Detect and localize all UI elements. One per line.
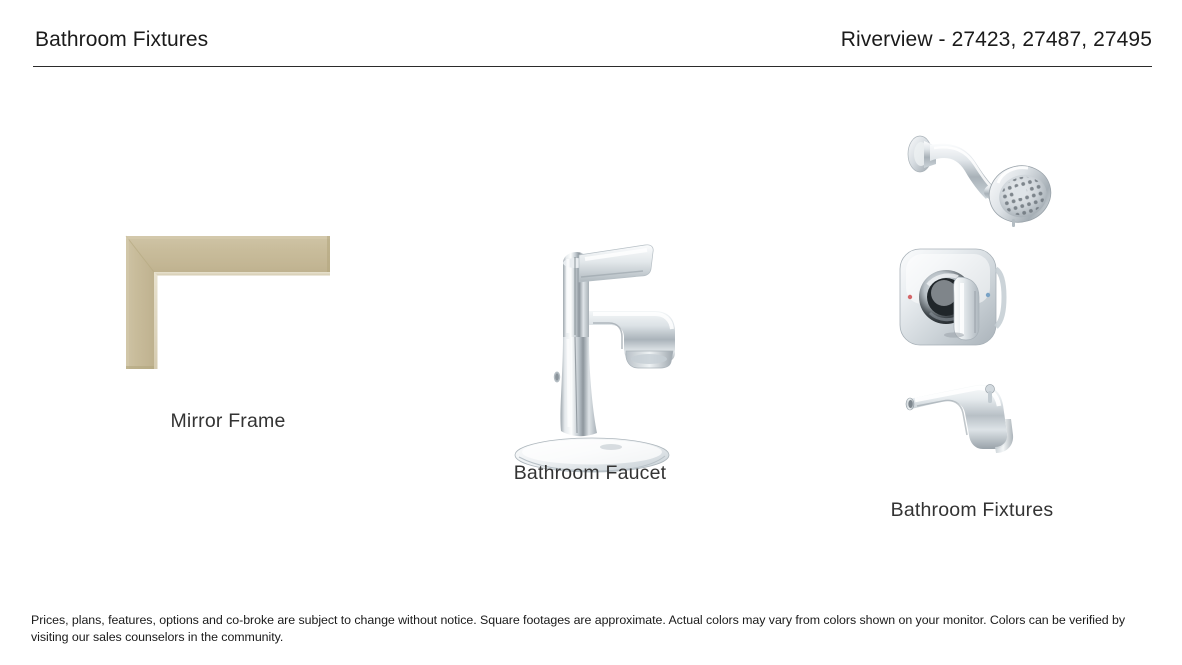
community-label: Riverview - 27423, 27487, 27495: [841, 28, 1152, 52]
disclaimer-text: Prices, plans, features, options and co-…: [31, 612, 1141, 646]
page-header: Bathroom Fixtures Riverview - 27423, 274…: [33, 28, 1152, 70]
tub-spout-image: [895, 375, 1045, 470]
bathroom-faucet-image: [505, 225, 680, 495]
product-faucet[interactable]: [505, 225, 680, 495]
mirror-frame-corner-image: [118, 230, 338, 375]
product-fixtures[interactable]: [880, 125, 1080, 515]
header-divider: [33, 66, 1152, 67]
page-footer: Prices, plans, features, options and co-…: [31, 612, 1141, 646]
product-caption-fixtures: Bathroom Fixtures: [812, 499, 1132, 522]
product-gallery: Mirror Frame: [0, 80, 1182, 560]
product-caption-mirror-frame: Mirror Frame: [68, 410, 388, 433]
shower-valve-trim-image: [880, 243, 1050, 353]
tub-spout-part: [895, 375, 1045, 470]
showerhead-part: [890, 125, 1070, 230]
product-caption-faucet: Bathroom Faucet: [430, 462, 750, 485]
product-mirror-frame[interactable]: [118, 230, 338, 375]
page-title: Bathroom Fixtures: [35, 28, 208, 52]
valve-trim-part: [880, 243, 1050, 353]
showerhead-image: [890, 125, 1070, 230]
